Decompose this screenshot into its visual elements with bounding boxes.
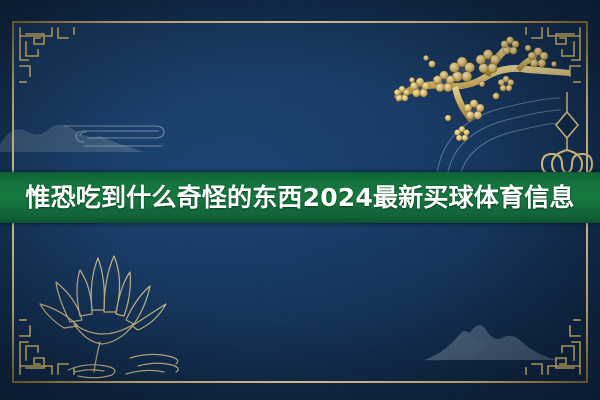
title-band: 惟恐吃到什么奇怪的东西2024最新买球体育信息 — [0, 172, 600, 223]
banner-title-text: 惟恐吃到什么奇怪的东西2024最新买球体育信息 — [25, 185, 574, 210]
decorative-banner: 惟恐吃到什么奇怪的东西2024最新买球体育信息 — [0, 0, 600, 400]
